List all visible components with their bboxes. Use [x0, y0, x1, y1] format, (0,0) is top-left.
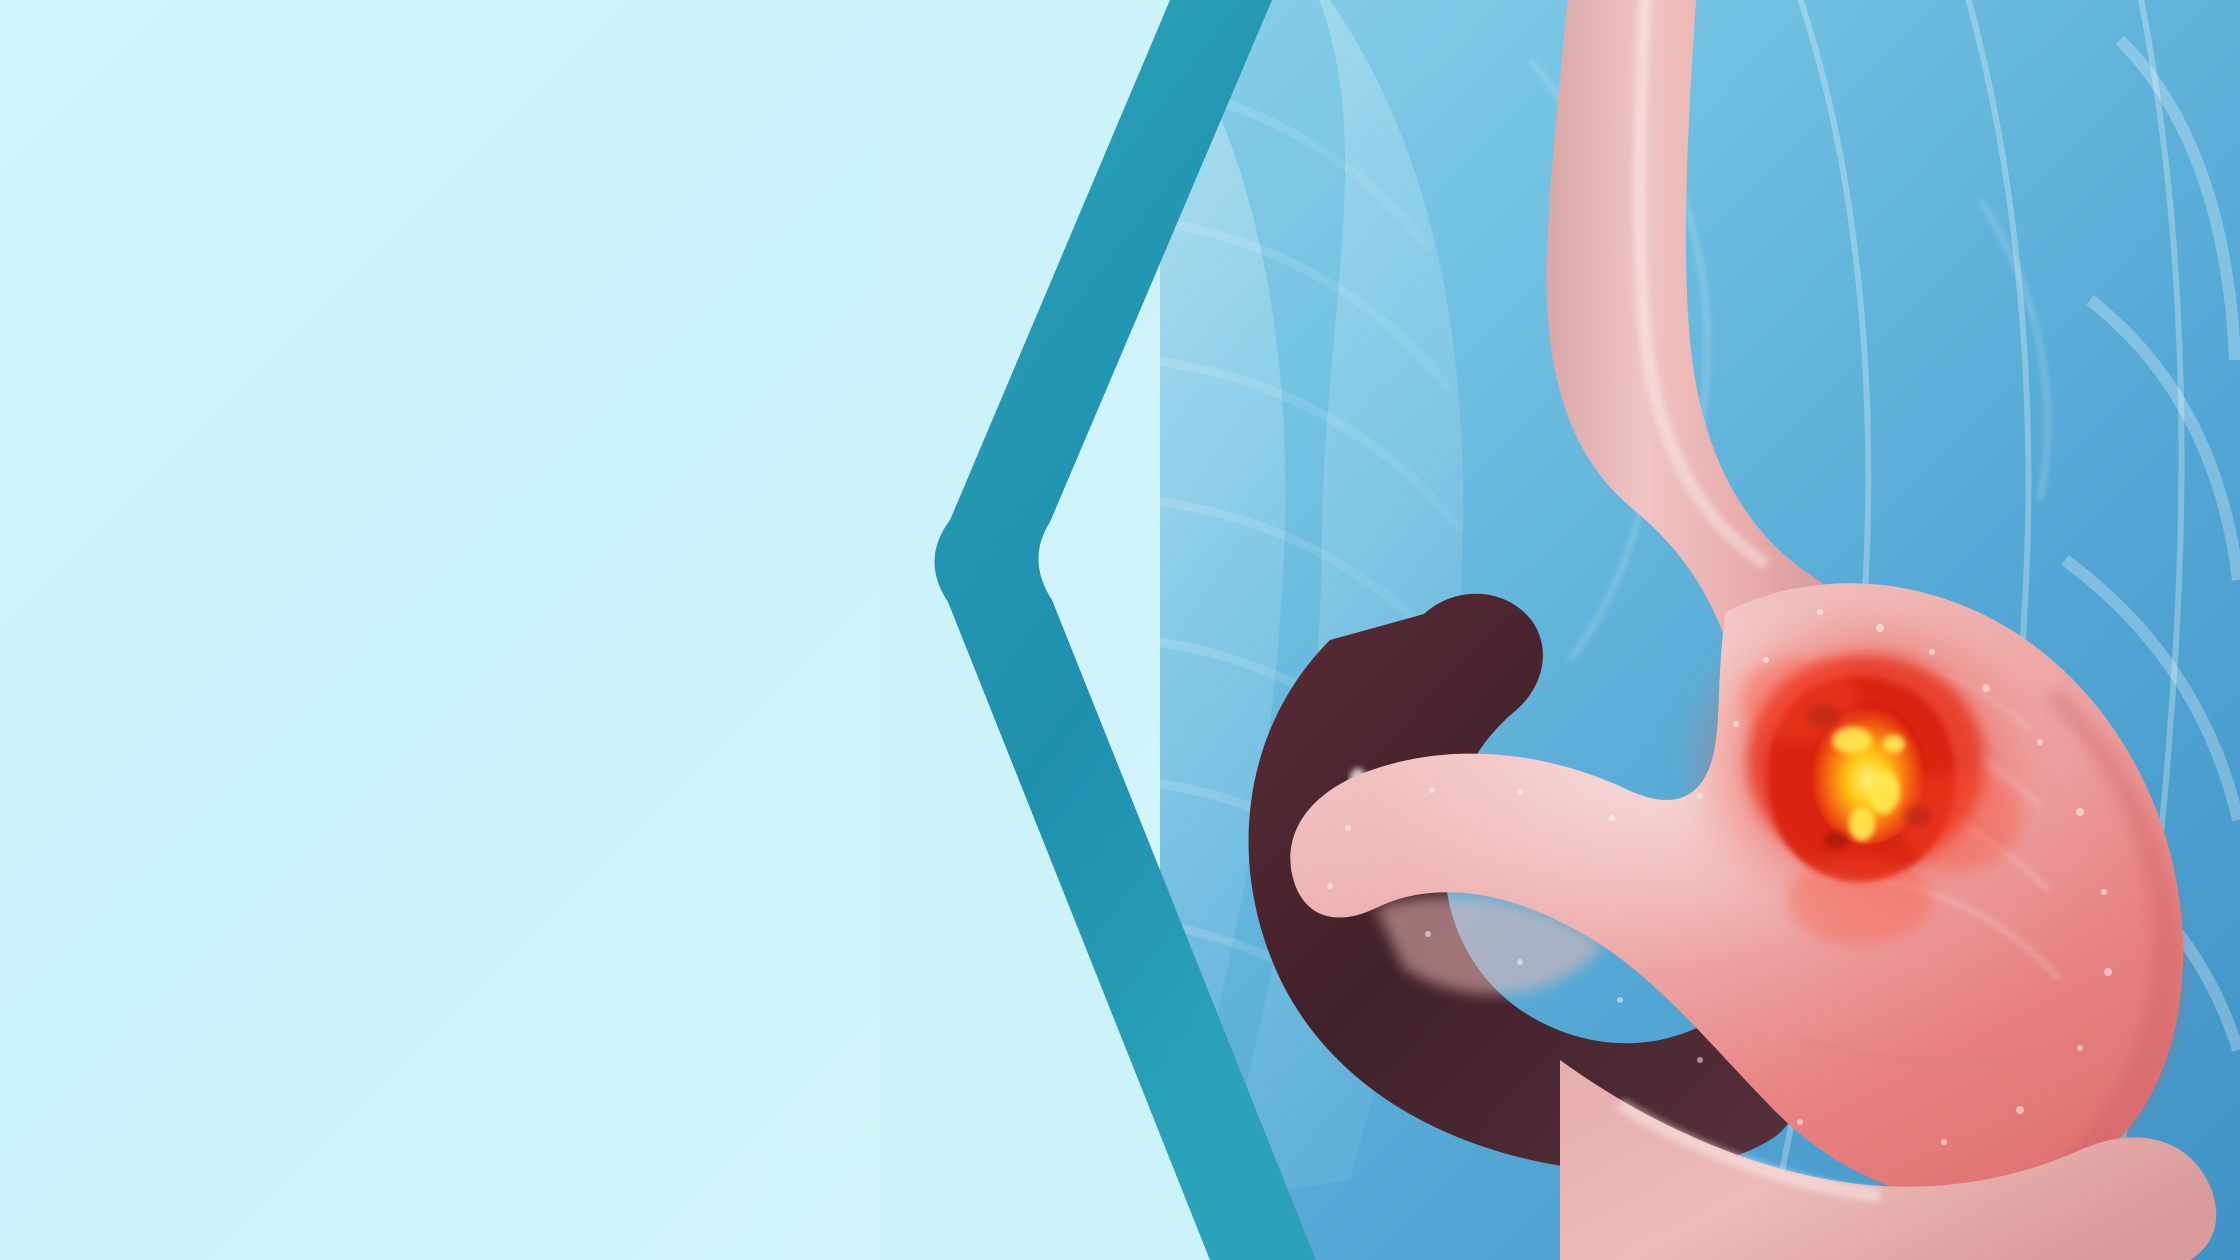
marketing-banner: CureMeAbroad Advanced Gastric Cancer Tre… — [0, 0, 2240, 1260]
anatomy-illustration-svg — [1000, 0, 2240, 1260]
gastric-anatomy-image — [1000, 0, 2240, 1260]
text-panel — [0, 0, 1160, 1260]
